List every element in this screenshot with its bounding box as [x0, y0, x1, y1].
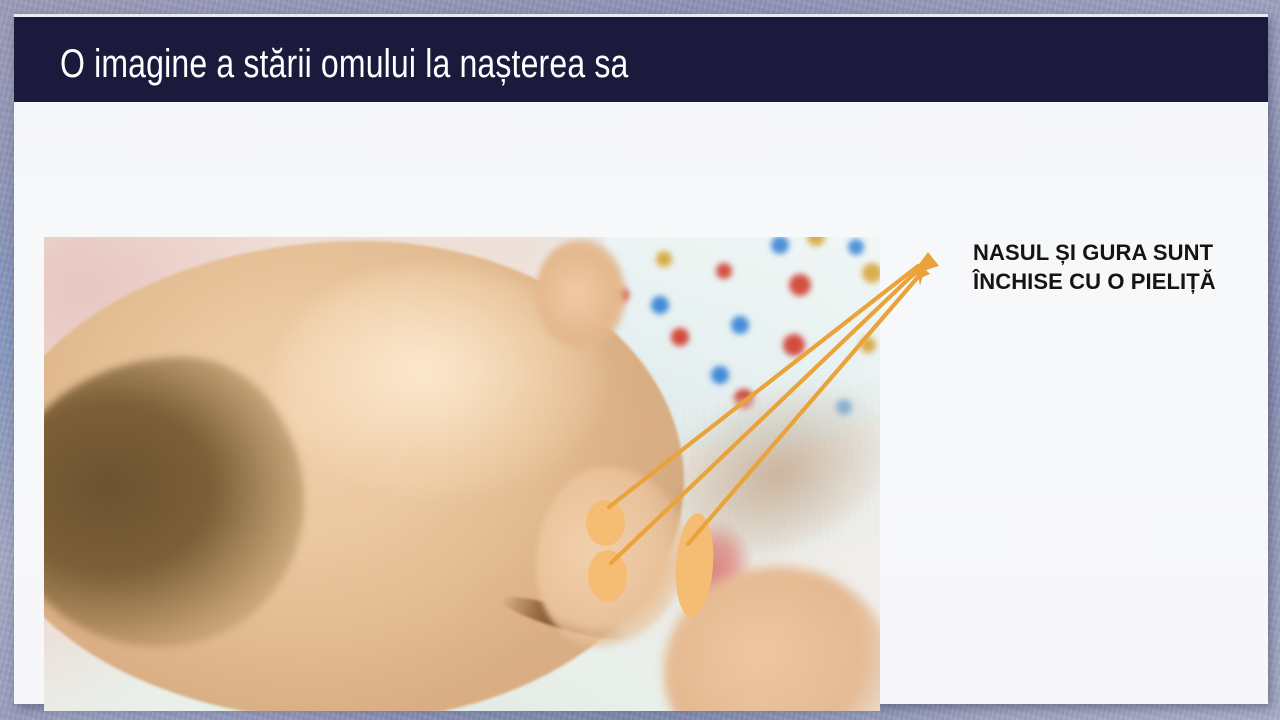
polka-dot — [860, 337, 876, 353]
baby-ear — [536, 239, 626, 349]
presentation-backdrop: NASUL ȘI GURA SUNT ÎNCHISE CU O PIELIȚĂ … — [0, 0, 1280, 720]
polka-dot — [711, 366, 729, 384]
newborn-photo — [44, 237, 880, 711]
slide-surface: NASUL ȘI GURA SUNT ÎNCHISE CU O PIELIȚĂ — [14, 14, 1268, 704]
annotation-label: NASUL ȘI GURA SUNT ÎNCHISE CU O PIELIȚĂ — [973, 238, 1263, 296]
annotation-line-1: NASUL ȘI GURA SUNT — [973, 238, 1263, 267]
marker-nostril-upper — [586, 500, 625, 546]
polka-dot — [862, 263, 880, 283]
polka-dot — [807, 237, 825, 246]
polka-dot — [716, 263, 732, 279]
polka-dot — [771, 237, 789, 254]
polka-dot — [783, 334, 805, 356]
polka-dot — [671, 328, 689, 346]
marker-nostril-lower — [588, 550, 627, 602]
slide-title-bar: O imagine a stării omului la nașterea sa — [14, 17, 1268, 102]
polka-dot — [848, 239, 864, 255]
slide-title: O imagine a stării omului la nașterea sa — [60, 41, 628, 87]
polka-dot — [651, 296, 669, 314]
polka-dot — [656, 251, 672, 267]
polka-dot — [731, 316, 749, 334]
polka-dot — [789, 274, 811, 296]
annotation-line-2: ÎNCHISE CU O PIELIȚĂ — [973, 267, 1263, 296]
